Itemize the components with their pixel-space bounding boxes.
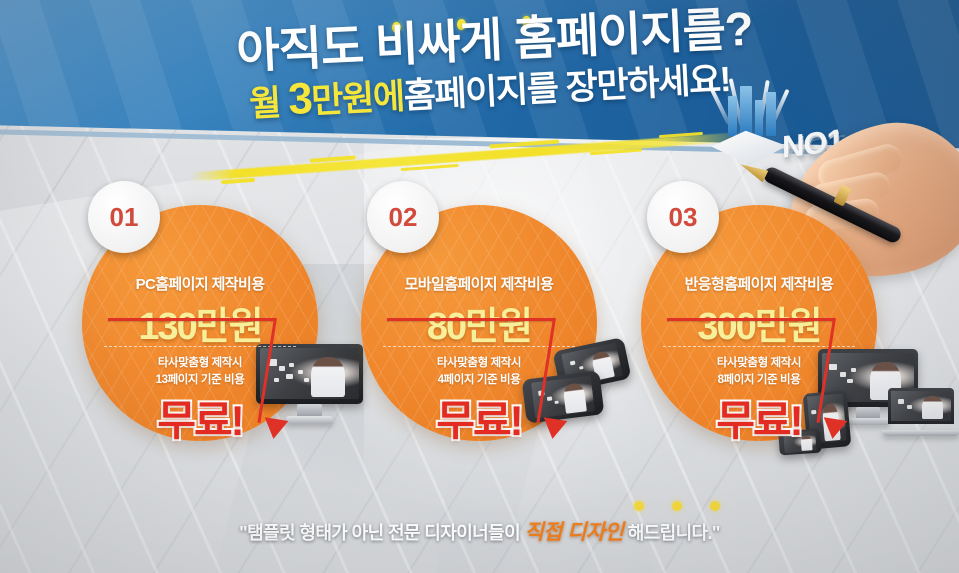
tagline-dots — [0, 498, 959, 512]
tagline-dot — [710, 501, 720, 511]
tagline-accent: 직접 디자인 — [524, 521, 623, 544]
offer-divider-2 — [383, 346, 575, 347]
offer-note-1: 타사맞춤형 제작시 13페이지 기준 비용 — [82, 355, 318, 388]
offer-strikethrough-1 — [108, 318, 276, 321]
offer-badge-2: 02 — [367, 181, 439, 253]
tagline-dot — [634, 501, 644, 511]
no1-building — [728, 96, 737, 136]
tagline-quote-close: 해드립니다." — [628, 523, 720, 543]
tagline-quote-open: "탬플릿 형태가 아닌 전문 디자이너들이 — [239, 523, 520, 543]
offer-arrow-head-3 — [821, 417, 848, 441]
offer-title-3: 반응형홈페이지 제작비용 — [641, 273, 877, 294]
offer-price-2: 80만원 — [361, 295, 597, 350]
headline-sub-rest: 홈페이지를 장만하세요! — [403, 60, 731, 116]
offer-divider-3 — [663, 346, 855, 347]
offer-note-line1: 타사맞춤형 제작시 — [437, 357, 521, 369]
screen-fleck — [907, 405, 912, 409]
offer-arrow-head-1 — [262, 417, 289, 441]
offer-card-3[interactable]: 03 반응형홈페이지 제작비용 300만원 타사맞춤형 제작시 8페이지 기준 … — [641, 205, 877, 441]
offer-arrow-head-2 — [541, 417, 568, 441]
offer-card-1[interactable]: 01 PC홈페이지 제작비용 130만원 타사맞춤형 제작시 13페이지 기준 … — [82, 205, 318, 441]
offer-note-line1: 타사맞춤형 제작시 — [158, 357, 242, 369]
offer-note-line2: 13페이지 기준 비용 — [156, 374, 245, 386]
offer-note-line1: 타사맞춤형 제작시 — [717, 357, 801, 369]
offer-strikethrough-3 — [667, 318, 835, 321]
no1-building — [740, 86, 752, 136]
offer-price-3: 300만원 — [641, 295, 877, 350]
offer-divider-1 — [104, 346, 296, 347]
headline-sub-amount: 3 — [287, 74, 313, 124]
offer-note-line2: 4페이지 기준 비용 — [438, 374, 521, 386]
offer-badge-1: 01 — [88, 181, 160, 253]
laptop-screen — [891, 391, 951, 421]
offer-note-3: 타사맞춤형 제작시 8페이지 기준 비용 — [641, 355, 877, 388]
screen-fleck — [898, 399, 904, 404]
offer-badge-3: 03 — [647, 181, 719, 253]
offer-card-2[interactable]: 02 모바일홈페이지 제작비용 80만원 타사맞춤형 제작시 4페이지 기준 비… — [361, 205, 597, 441]
promo-banner: 아직도 비싸게 홈페이지를? 월 3만원에홈페이지를 장만하세요! NO1 NO… — [0, 0, 959, 573]
laptop-screen-frame — [888, 388, 954, 424]
offer-price-1: 130만원 — [82, 295, 318, 350]
bottom-tagline: "탬플릿 형태가 아닌 전문 디자이너들이 직접 디자인 해드립니다." — [0, 516, 959, 546]
offer-strikethrough-2 — [387, 318, 555, 321]
offer-title-1: PC홈페이지 제작비용 — [82, 273, 318, 294]
offer-title-2: 모바일홈페이지 제작비용 — [361, 273, 597, 294]
headline-sub-month: 월 — [248, 83, 289, 124]
offer-note-2: 타사맞춤형 제작시 4페이지 기준 비용 — [361, 355, 597, 388]
laptop-base — [882, 430, 959, 436]
device-responsive-laptop — [888, 388, 954, 436]
headline-sub-unit: 만원에 — [310, 77, 404, 121]
tagline-dot — [672, 501, 682, 511]
offer-note-line2: 8페이지 기준 비용 — [718, 374, 801, 386]
screen-person — [922, 396, 942, 419]
